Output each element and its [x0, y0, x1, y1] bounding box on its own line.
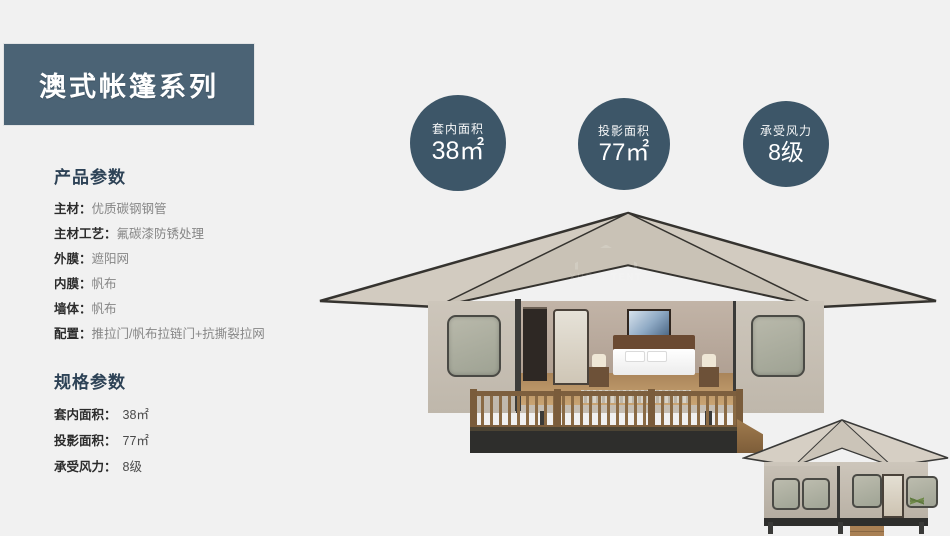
- secondary-window: [852, 474, 882, 508]
- secondary-support-leg: [838, 522, 843, 534]
- railing-post: [554, 389, 561, 429]
- badge-projected-area: 投影面积 77㎡: [578, 98, 670, 190]
- badge-value: 8级: [768, 140, 804, 165]
- nightstand-right: [699, 367, 719, 387]
- badge-value: 38㎡: [432, 138, 485, 166]
- deck-base: [470, 431, 745, 453]
- secondary-tent-body: [764, 462, 928, 520]
- spec-value: 77㎡: [117, 434, 149, 448]
- badge-label: 套内面积: [432, 120, 484, 137]
- product-spec-page: 澳式帐篷系列 产品参数 主材：优质碳钢钢管 主材工艺：氟碳漆防锈处理 外膜：遮阳…: [0, 0, 950, 534]
- railing-post: [648, 389, 655, 429]
- badge-label: 承受风力: [760, 122, 812, 139]
- param-label: 主材工艺：: [54, 227, 117, 241]
- param-label: 主材：: [54, 202, 92, 216]
- tent-deck: [470, 395, 745, 453]
- secondary-support-leg: [768, 522, 773, 534]
- bed: [613, 347, 695, 385]
- param-row: 主材：优质碳钢钢管: [54, 197, 354, 222]
- window-left: [447, 315, 501, 377]
- badge-wind-resistance: 承受风力 8级: [743, 101, 829, 187]
- secondary-window: [802, 478, 830, 510]
- spec-row: 套内面积：38㎡: [54, 402, 354, 428]
- spec-row: 投影面积：77㎡: [54, 428, 354, 454]
- param-row: 外膜：遮阳网: [54, 247, 354, 272]
- secondary-entry-door: [882, 474, 904, 518]
- param-value: 推拉门/帆布拉链门+抗撕裂拉网: [92, 327, 265, 341]
- wall-panel-right: [733, 301, 824, 413]
- secondary-tent-base: [764, 518, 928, 526]
- interior-door: [553, 309, 589, 385]
- table-lamp-right: [702, 354, 716, 367]
- param-value: 帆布: [92, 302, 117, 316]
- pillow: [647, 351, 667, 362]
- param-row: 墙体：帆布: [54, 297, 354, 322]
- spec-value: 38㎡: [117, 408, 149, 422]
- param-label: 配置：: [54, 327, 92, 341]
- param-row: 内膜：帆布: [54, 272, 354, 297]
- spec-label: 投影面积：: [54, 434, 117, 448]
- badge-interior-area: 套内面积 38㎡: [410, 95, 506, 191]
- railing-post: [470, 389, 477, 429]
- table-lamp-left: [592, 354, 606, 367]
- wall-artwork: [627, 309, 671, 337]
- nightstand-left: [589, 367, 609, 387]
- series-title-banner: 澳式帐篷系列: [4, 44, 254, 125]
- specification-column: 产品参数 主材：优质碳钢钢管 主材工艺：氟碳漆防锈处理 外膜：遮阳网 内膜：帆布…: [54, 163, 354, 480]
- param-value: 优质碳钢钢管: [92, 202, 167, 216]
- window-right: [751, 315, 805, 377]
- product-params-heading: 产品参数: [54, 163, 354, 188]
- secondary-tent-illustration: [742, 418, 950, 534]
- deck-railing: [472, 391, 743, 429]
- spec-value: 8级: [117, 460, 142, 474]
- badge-value: 77㎡: [599, 140, 650, 166]
- pillow: [625, 351, 645, 362]
- param-label: 墙体：: [54, 302, 92, 316]
- param-value: 氟碳漆防锈处理: [117, 227, 205, 241]
- potted-plant: [910, 492, 924, 510]
- page-title: 澳式帐篷系列: [39, 65, 219, 104]
- param-label: 外膜：: [54, 252, 92, 266]
- spec-params-block: 规格参数 套内面积：38㎡ 投影面积：77㎡ 承受风力：8级: [54, 368, 354, 480]
- param-value: 遮阳网: [92, 252, 130, 266]
- badge-label: 投影面积: [598, 122, 650, 139]
- spec-row: 承受风力：8级: [54, 454, 354, 480]
- spec-label: 套内面积：: [54, 408, 117, 422]
- param-value: 帆布: [92, 277, 117, 291]
- param-row: 配置：推拉门/帆布拉链门+抗撕裂拉网: [54, 322, 354, 347]
- shelving-unit: [523, 307, 547, 381]
- param-row: 主材工艺：氟碳漆防锈处理: [54, 222, 354, 247]
- secondary-window: [772, 478, 800, 510]
- secondary-support-leg: [919, 522, 924, 534]
- tent-interior: [519, 301, 733, 405]
- secondary-wall-left: [764, 466, 840, 520]
- spec-label: 承受风力：: [54, 460, 117, 474]
- param-label: 内膜：: [54, 277, 92, 291]
- spec-params-heading: 规格参数: [54, 368, 354, 393]
